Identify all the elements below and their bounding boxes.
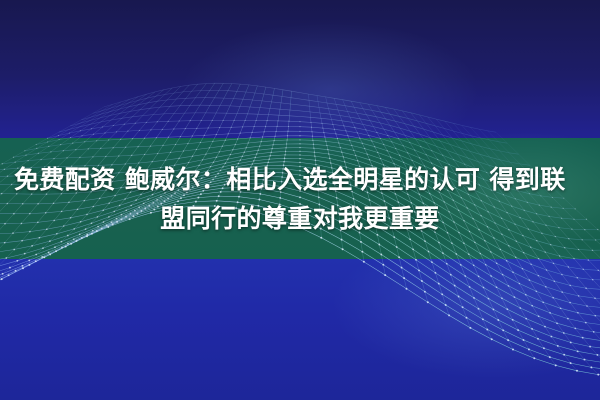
banner-image: 免费配资 鲍威尔：相比入选全明星的认可 得到联 盟同行的尊重对我更重要 bbox=[0, 0, 600, 400]
headline-text: 免费配资 鲍威尔：相比入选全明星的认可 得到联 盟同行的尊重对我更重要 bbox=[0, 160, 600, 238]
headline-line-2: 盟同行的尊重对我更重要 bbox=[10, 199, 590, 238]
headline-line-1: 免费配资 鲍威尔：相比入选全明星的认可 得到联 bbox=[10, 160, 590, 199]
